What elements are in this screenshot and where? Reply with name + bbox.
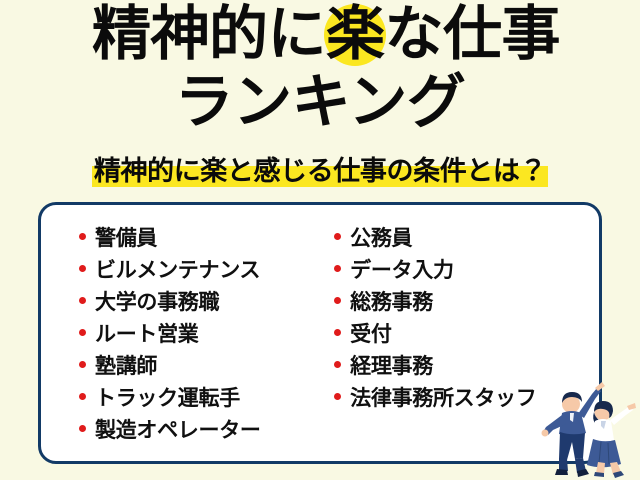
- bullet-icon: [79, 425, 86, 432]
- list-item-label: 総務事務: [350, 286, 433, 318]
- list-item-label: 製造オペレーター: [95, 414, 261, 446]
- list-item: 警備員: [79, 222, 320, 254]
- list-item: ルート営業: [79, 318, 320, 350]
- list-item: 大学の事務職: [79, 286, 320, 318]
- job-list-right-column: 公務員 データ入力 総務事務 受付 経理事務: [320, 205, 599, 461]
- bullet-icon: [334, 393, 341, 400]
- list-item-label: 受付: [350, 318, 391, 350]
- bullet-icon: [79, 329, 86, 336]
- title-line-1: 精神的に楽な仕事: [0, 4, 640, 63]
- list-item-label: データ入力: [350, 254, 454, 286]
- list-item: ビルメンテナンス: [79, 254, 320, 286]
- subtitle-text: 精神的に楽と感じる仕事の条件とは？: [92, 156, 548, 188]
- bullet-icon: [79, 393, 86, 400]
- list-item-label: 経理事務: [350, 350, 433, 382]
- title-text-after-highlight: な仕事: [385, 0, 561, 68]
- bullet-icon: [79, 361, 86, 368]
- title-line-2: ランキング: [0, 72, 640, 131]
- title-text-before-highlight: 精神的に: [92, 0, 326, 68]
- job-list-left-column: 警備員 ビルメンテナンス 大学の事務職 ルート営業 塾講師: [41, 205, 320, 461]
- list-item-label: ビルメンテナンス: [95, 254, 260, 286]
- list-item: 法律事務所スタッフ: [334, 382, 599, 414]
- subtitle-container: 精神的に楽と感じる仕事の条件とは？: [0, 156, 640, 188]
- bullet-icon: [79, 297, 86, 304]
- infographic-root: 精神的に楽な仕事 ランキング 精神的に楽と感じる仕事の条件とは？ 警備員 ビルメ…: [0, 0, 640, 480]
- bullet-icon: [334, 329, 341, 336]
- job-list-card: 警備員 ビルメンテナンス 大学の事務職 ルート営業 塾講師: [38, 202, 602, 464]
- bullet-icon: [79, 265, 86, 272]
- list-item-label: 大学の事務職: [95, 286, 219, 318]
- list-item-label: トラック運転手: [95, 382, 240, 414]
- list-item: トラック運転手: [79, 382, 320, 414]
- list-item: 経理事務: [334, 350, 599, 382]
- list-item: 製造オペレーター: [79, 414, 320, 446]
- bullet-icon: [334, 233, 341, 240]
- title-highlight-raku: 楽: [326, 4, 385, 63]
- list-item: データ入力: [334, 254, 599, 286]
- job-list-columns: 警備員 ビルメンテナンス 大学の事務職 ルート営業 塾講師: [41, 205, 599, 461]
- list-item-label: 警備員: [95, 222, 157, 254]
- list-item: 公務員: [334, 222, 599, 254]
- bullet-icon: [334, 361, 341, 368]
- list-item-label: 公務員: [350, 222, 412, 254]
- bullet-icon: [334, 265, 341, 272]
- list-item: 受付: [334, 318, 599, 350]
- list-item-label: 塾講師: [95, 350, 157, 382]
- bullet-icon: [79, 233, 86, 240]
- list-item: 総務事務: [334, 286, 599, 318]
- bullet-icon: [334, 297, 341, 304]
- list-item-label: 法律事務所スタッフ: [350, 382, 536, 414]
- list-item-label: ルート営業: [95, 318, 199, 350]
- list-item: 塾講師: [79, 350, 320, 382]
- page-title: 精神的に楽な仕事 ランキング: [0, 4, 640, 131]
